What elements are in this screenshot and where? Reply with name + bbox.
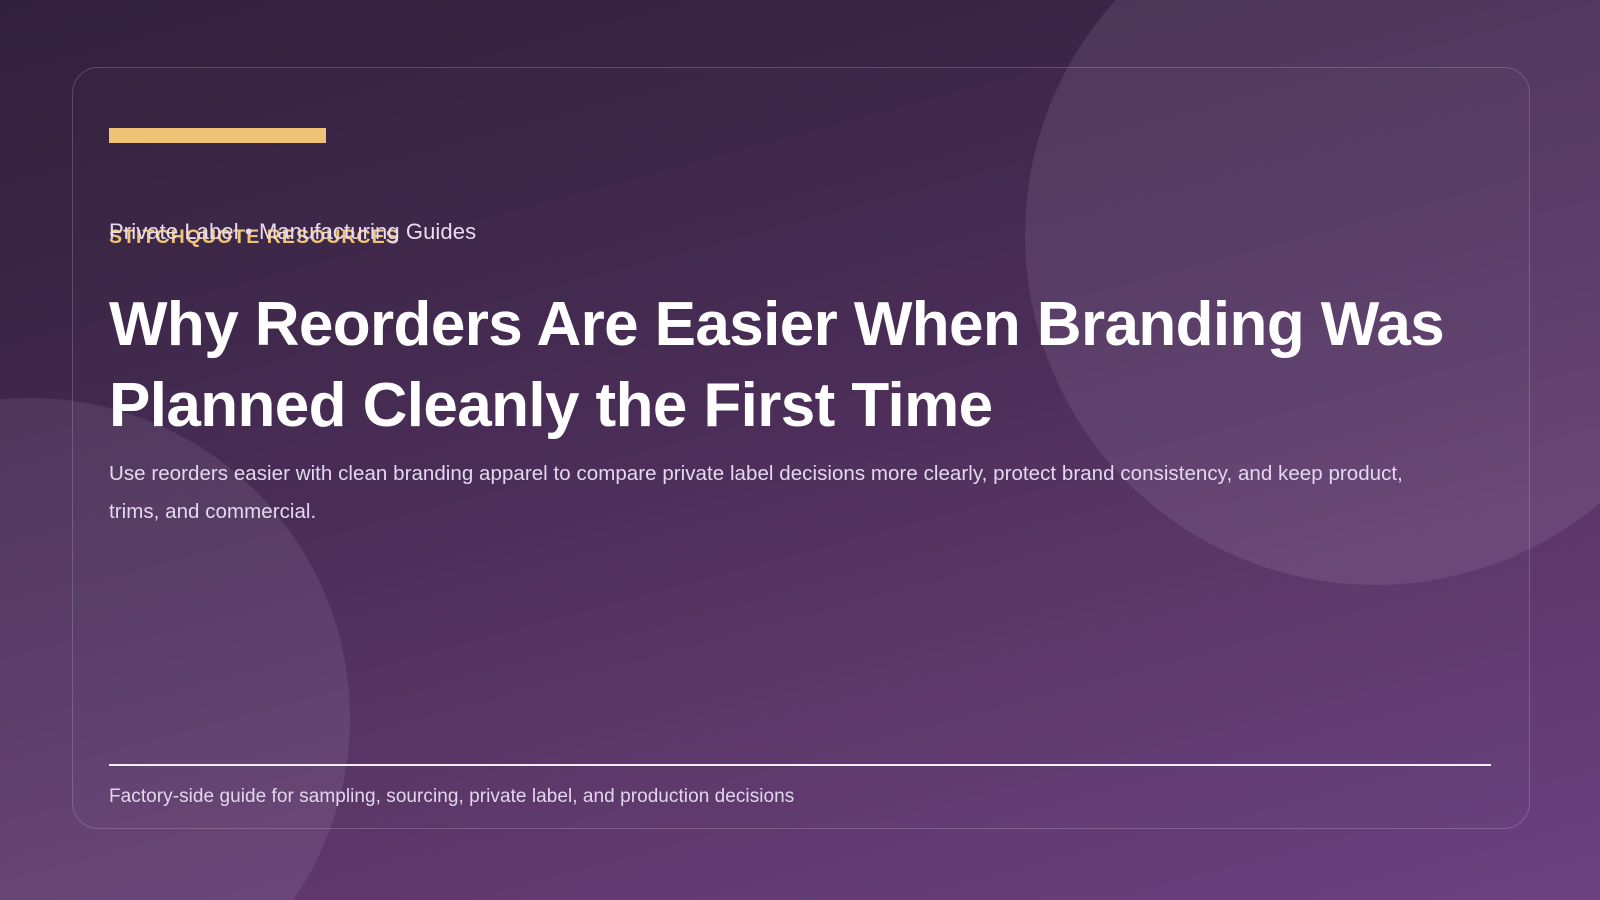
page-title: Why Reorders Are Easier When Branding Wa… — [109, 284, 1469, 446]
card-inner: STITCHQUOTE RESOURCES Private Label • Ma… — [109, 68, 1493, 828]
kicker-label: Private Label • Manufacturing Guides — [109, 219, 476, 245]
page-subtitle: Use reorders easier with clean branding … — [109, 455, 1409, 530]
content-card: STITCHQUOTE RESOURCES Private Label • Ma… — [72, 67, 1530, 829]
footer-note: Factory-side guide for sampling, sourcin… — [109, 786, 794, 808]
footer-divider — [109, 764, 1491, 766]
text-stack: STITCHQUOTE RESOURCES Private Label • Ma… — [109, 68, 1493, 828]
